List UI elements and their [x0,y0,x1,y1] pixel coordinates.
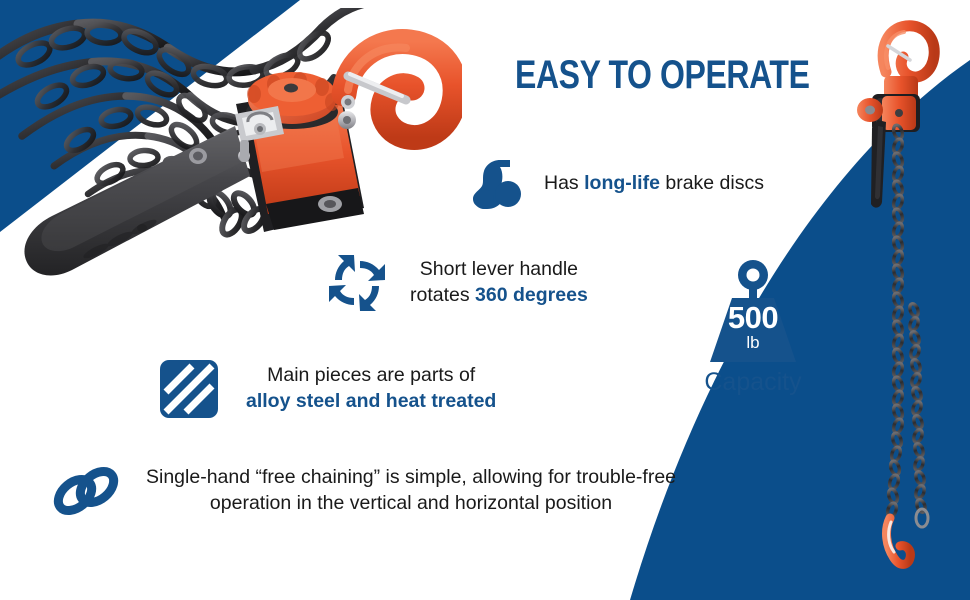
feature-brake-text: Has long-life brake discs [544,171,764,197]
feature-alloy-text: Main pieces are parts ofalloy steel and … [246,363,496,414]
chain-link-icon [52,462,120,520]
capacity-badge: 500 lb Capacity [688,258,818,395]
feature-alloy-steel: Main pieces are parts ofalloy steel and … [158,358,496,420]
side-load-chain [886,124,927,518]
rotation-arrows-icon [326,252,388,314]
infographic-banner: EASY TO OPERATE Has long-life brake disc… [0,0,970,600]
feature-brake-discs: Has long-life brake discs [470,158,764,210]
feature-chaining-text: Single-hand “free chaining” is simple, a… [146,465,676,516]
capacity-unit: lb [688,334,818,351]
flexed-bicep-icon [470,158,526,210]
product-image-side-hoist [826,10,956,585]
feature-lever-rotation: Short lever handlerotates 360 degrees [326,252,588,314]
page-title: EASY TO OPERATE [515,55,755,95]
capacity-value: 500 [688,302,818,333]
side-bottom-hook [887,509,928,564]
side-top-hook [883,26,934,77]
side-hoist-body [857,76,920,208]
orange-hook [341,42,455,138]
hatched-square-icon [158,358,220,420]
feature-rotation-text: Short lever handlerotates 360 degrees [410,257,588,308]
feature-free-chaining: Single-hand “free chaining” is simple, a… [52,462,676,520]
capacity-label: Capacity [688,370,818,395]
